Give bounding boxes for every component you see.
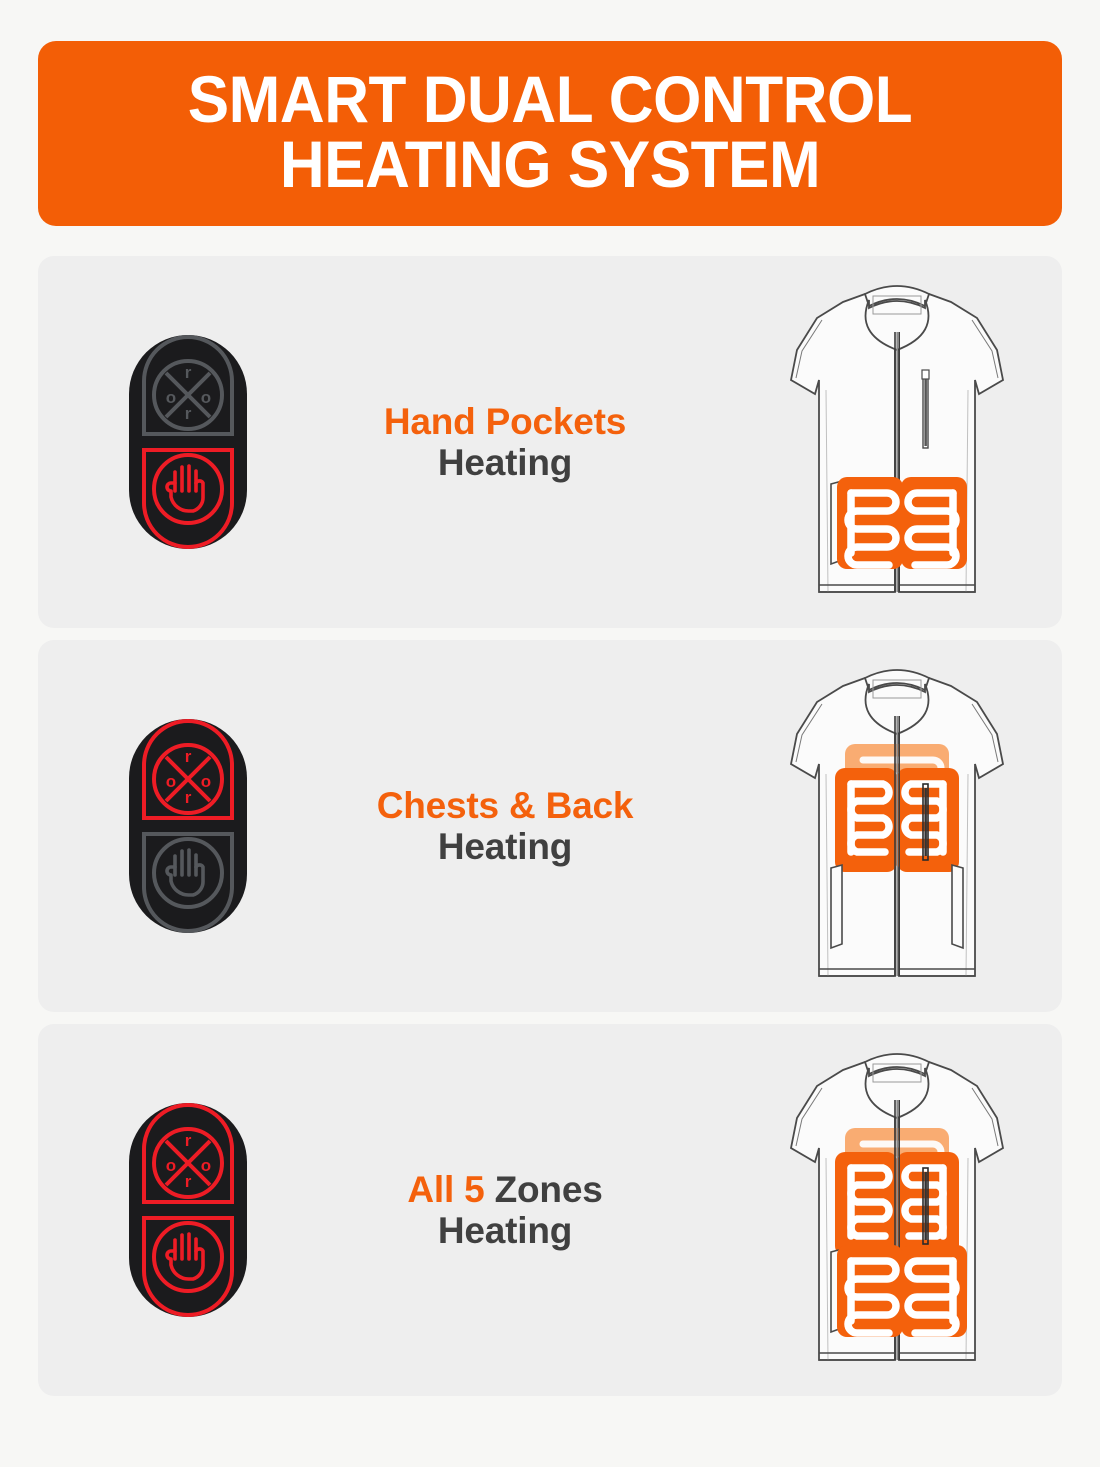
heating-pad-chest-left [835,768,897,872]
feature-label-line-1: Chests & Back [377,785,634,826]
feature-card-all-5-zones: r o o r All 5 Zon [38,1024,1062,1396]
svg-text:o: o [166,388,176,407]
feature-label-line-2: Heating [438,1210,572,1251]
feature-cards-list: r o o r [38,256,1062,1396]
feature-label-chests-back: Chests & Back Heating [298,785,732,868]
chest-pocket-zipper [923,784,928,860]
feature-label-line-1: Hand Pockets [384,401,626,442]
front-zipper [894,716,900,976]
svg-text:r: r [185,788,192,807]
heated-vest-diagram [747,272,1047,612]
header-title-line-1: SMART DUAL CONTROL [97,67,1003,132]
chest-pocket-zipper [922,370,929,448]
dual-control-remote-icon[interactable]: r o o r [123,717,253,935]
feature-label-hand-pockets: Hand Pockets Heating [298,401,732,484]
feature-label-line-1: All 5 Zones [407,1169,602,1210]
heating-pad-hand-left [837,1245,903,1337]
controller-hand-pockets: r o o r [38,333,338,551]
svg-text:o: o [201,388,211,407]
feature-label-line-2: Heating [438,442,572,483]
dual-control-remote-icon[interactable]: r o o r [123,333,253,551]
svg-text:r: r [185,1131,192,1150]
infographic-page: SMART DUAL CONTROL HEATING SYSTEM r o [0,0,1100,1467]
svg-text:o: o [166,772,176,791]
controller-all-5-zones: r o o r [38,1101,338,1319]
svg-text:r: r [185,404,192,423]
heating-pad-chest-left [835,1152,897,1256]
controller-chests-back: r o o r [38,717,338,935]
feature-label-all-5-zones: All 5 Zones Heating [298,1169,732,1252]
vest-illustration-all-5-zones [732,1040,1062,1380]
vest-illustration-chests-back [732,656,1062,996]
svg-text:r: r [185,1172,192,1191]
feature-label-line-2: Heating [438,826,572,867]
feature-card-chests-back: r o o r [38,640,1062,1012]
svg-text:o: o [201,1156,211,1175]
heated-vest-diagram [747,1040,1047,1380]
heating-pad-hand-right [901,477,967,569]
chest-pocket-zipper [923,1168,928,1244]
heating-pad-hand-left [837,477,903,569]
vest-illustration-hand-pockets [732,272,1062,612]
svg-text:r: r [185,363,192,382]
dual-control-remote-icon[interactable]: r o o r [123,1101,253,1319]
svg-text:r: r [185,747,192,766]
svg-text:o: o [166,1156,176,1175]
header-banner: SMART DUAL CONTROL HEATING SYSTEM [38,41,1062,226]
heated-vest-diagram [747,656,1047,996]
svg-text:o: o [201,772,211,791]
heating-pad-hand-right [901,1245,967,1337]
feature-card-hand-pockets: r o o r [38,256,1062,628]
header-title-line-2: HEATING SYSTEM [97,132,1003,197]
